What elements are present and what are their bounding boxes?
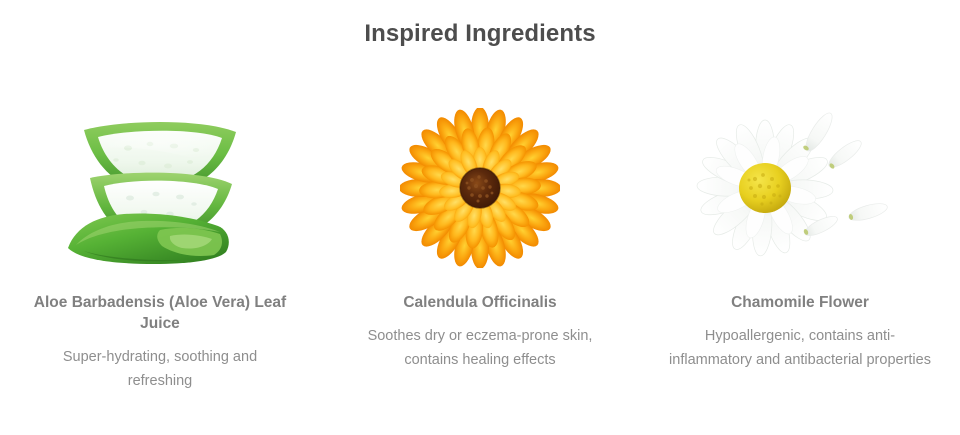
ingredient-name: Chamomile Flower — [655, 292, 945, 313]
ingredient-description: Super-hydrating, soothing and refreshing — [35, 345, 285, 393]
chamomile-flower-image — [685, 105, 915, 270]
ingredient-name: Aloe Barbadensis (Aloe Vera) Leaf Juice — [15, 292, 305, 334]
ingredient-card-chamomile: Chamomile Flower Hypoallergenic, contain… — [640, 105, 960, 372]
ingredient-description: Hypoallergenic, contains anti-inflammato… — [669, 324, 931, 372]
aloe-vera-leaf-slices-image — [45, 105, 275, 270]
ingredients-grid: Aloe Barbadensis (Aloe Vera) Leaf Juice … — [0, 105, 960, 393]
ingredient-card-aloe: Aloe Barbadensis (Aloe Vera) Leaf Juice … — [0, 105, 320, 393]
ingredient-description: Soothes dry or eczema-prone skin, contai… — [349, 324, 611, 372]
inspired-ingredients-section: Inspired Ingredients — [0, 0, 960, 435]
calendula-flower-image — [365, 105, 595, 270]
page-title: Inspired Ingredients — [0, 19, 960, 49]
ingredient-card-calendula: Calendula Officinalis Soothes dry or ecz… — [320, 105, 640, 372]
ingredient-name: Calendula Officinalis — [335, 292, 625, 313]
